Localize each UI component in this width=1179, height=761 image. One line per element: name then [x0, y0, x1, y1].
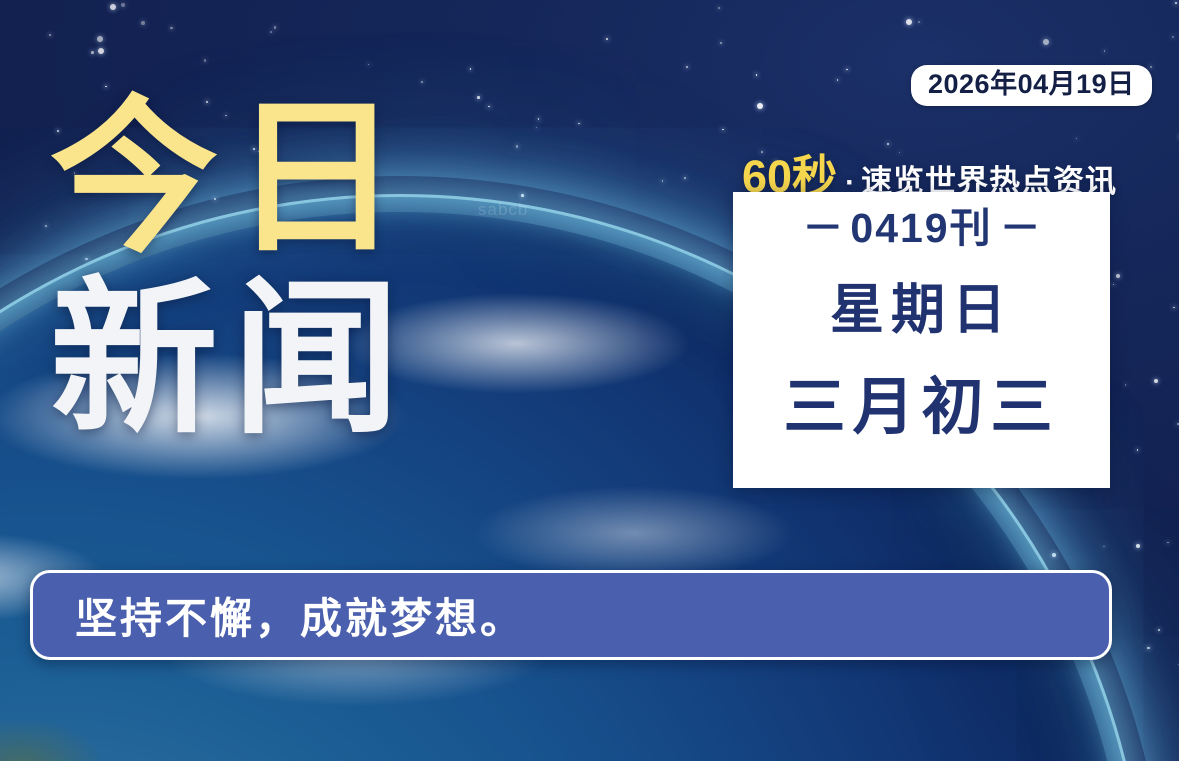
issue-number-row: －0419刊－ — [795, 208, 1047, 249]
page-title: 今日 新闻 — [50, 96, 414, 441]
issue-dash-right-icon: － — [993, 205, 1048, 251]
news-poster: sabcb 2026年04月19日 今日 新闻 60秒 · 速览世界热点资讯 －… — [0, 0, 1179, 761]
page-title-line-2: 新闻 — [50, 277, 414, 442]
page-title-line-1: 今日 — [50, 96, 414, 261]
issue-number: 0419刊 — [850, 205, 992, 251]
quote-text: 坚持不懈，成就梦想。 — [75, 585, 525, 646]
weekday-label: 星期日 — [830, 283, 1013, 337]
issue-dash-left-icon: － — [795, 205, 850, 251]
quote-bar: 坚持不懈，成就梦想。 — [30, 570, 1112, 660]
date-badge: 2026年04月19日 — [911, 65, 1152, 106]
lunar-date-label: 三月初三 — [783, 377, 1059, 439]
issue-info-card: －0419刊－ 星期日 三月初三 — [733, 192, 1110, 488]
